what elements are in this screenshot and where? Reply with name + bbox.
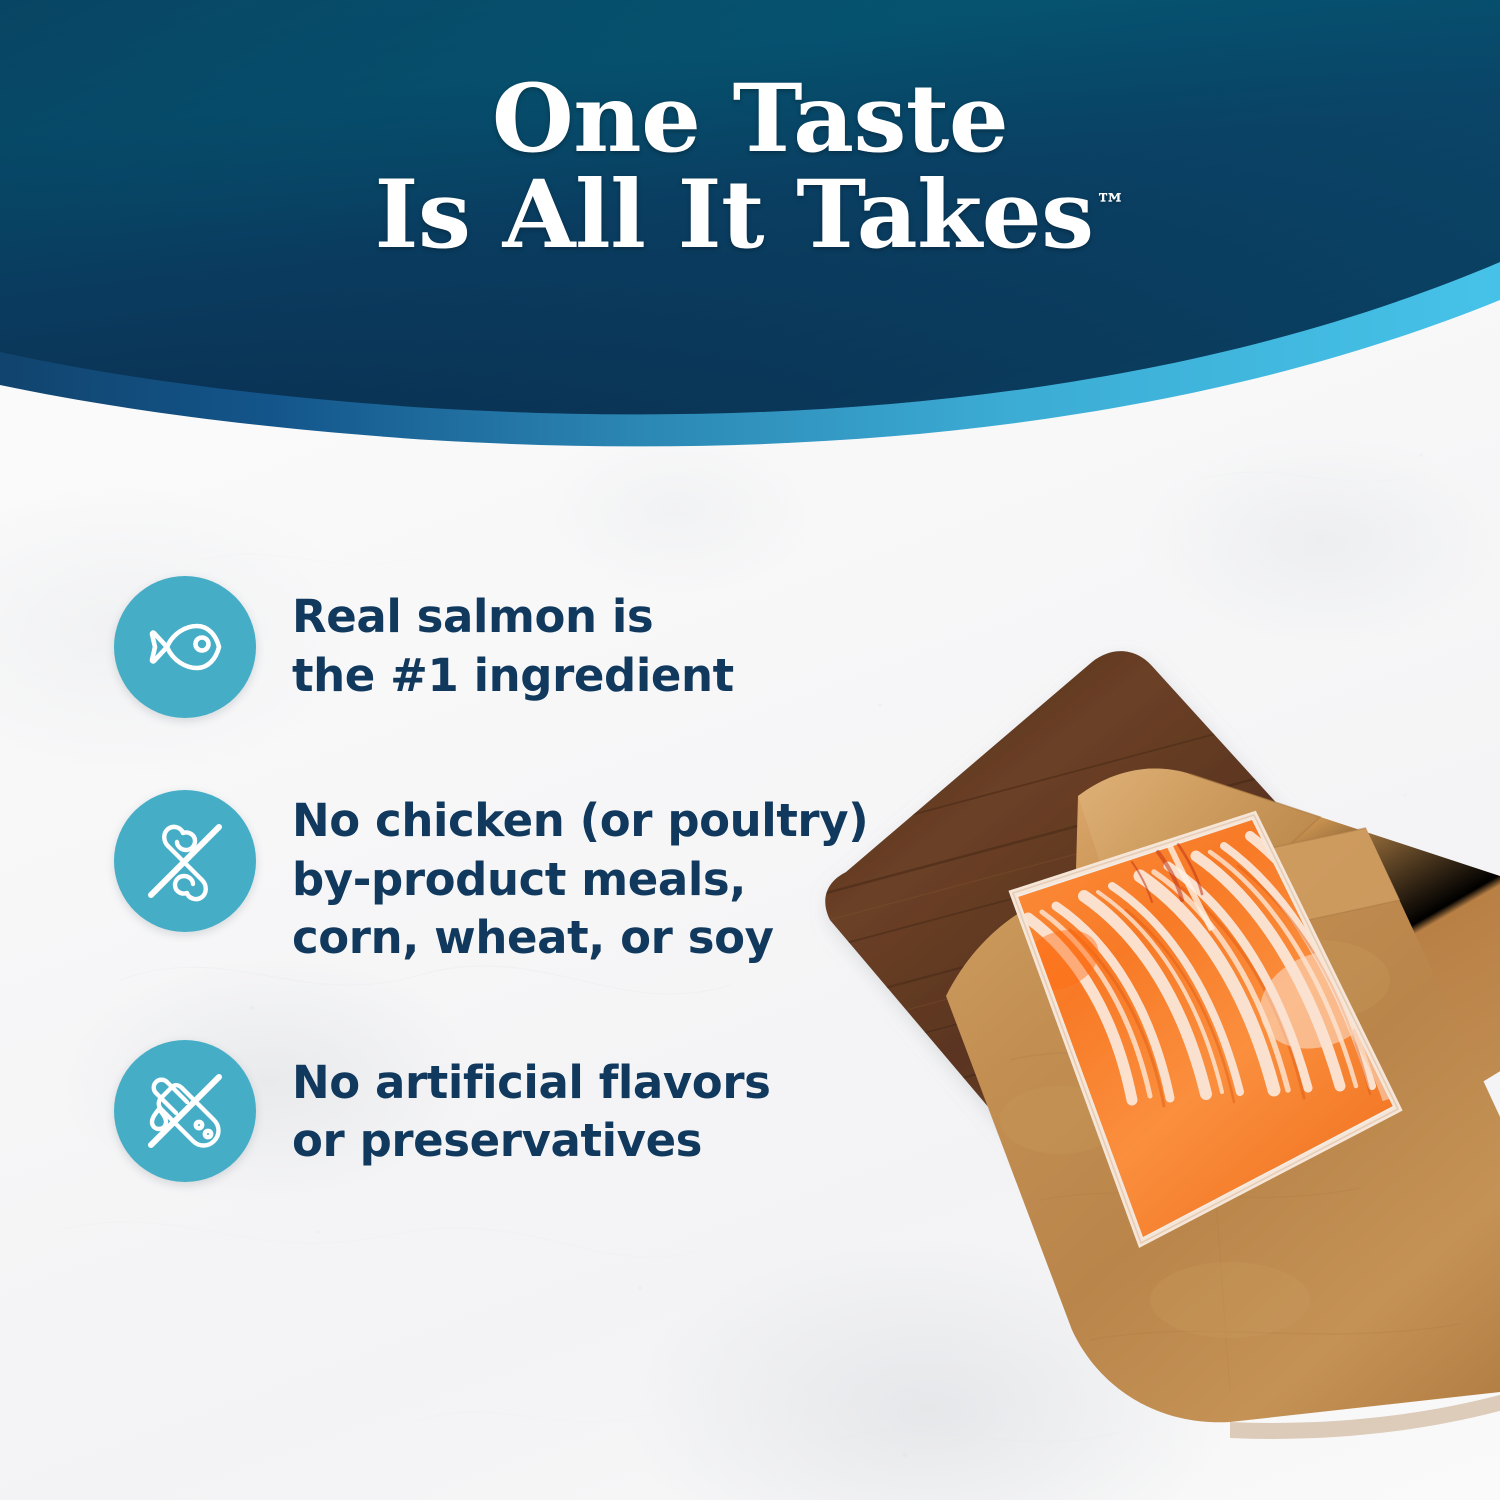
fish-icon	[142, 604, 228, 690]
no-test-tube-badge	[114, 1040, 256, 1182]
benefits-list: Real salmon is the #1 ingredient	[114, 576, 894, 1182]
headline-line-2-wrapper: Is All It Takes™	[374, 168, 1125, 264]
fish-badge	[114, 576, 256, 718]
no-bone-badge	[114, 790, 256, 932]
list-item: Real salmon is the #1 ingredient	[114, 576, 894, 718]
list-item-text: Real salmon is the #1 ingredient	[292, 576, 734, 705]
list-item-line: the #1 ingredient	[292, 647, 734, 706]
list-item-line: No artificial flavors	[292, 1054, 771, 1113]
no-test-tube-icon	[139, 1065, 231, 1157]
prohibition-slash	[151, 827, 219, 895]
page-title: One Taste Is All It Takes™	[0, 72, 1500, 264]
trademark-symbol: ™	[1096, 188, 1126, 223]
list-item-line: or preservatives	[292, 1112, 771, 1171]
list-item-line: corn, wheat, or soy	[292, 909, 868, 968]
list-item: No artificial flavors or preservatives	[114, 1040, 894, 1182]
list-item-line: No chicken (or poultry)	[292, 792, 868, 851]
list-item-text: No artificial flavors or preservatives	[292, 1040, 771, 1171]
list-item-line: Real salmon is	[292, 588, 734, 647]
headline-line-2: Is All It Takes	[374, 160, 1093, 270]
no-bone-icon	[139, 815, 231, 907]
list-item-line: by-product meals,	[292, 851, 868, 910]
headline-line-1: One Taste	[0, 72, 1500, 168]
list-item: No chicken (or poultry) by-product meals…	[114, 790, 894, 968]
list-item-text: No chicken (or poultry) by-product meals…	[292, 790, 868, 968]
marketing-infographic: One Taste Is All It Takes™	[0, 0, 1500, 1500]
